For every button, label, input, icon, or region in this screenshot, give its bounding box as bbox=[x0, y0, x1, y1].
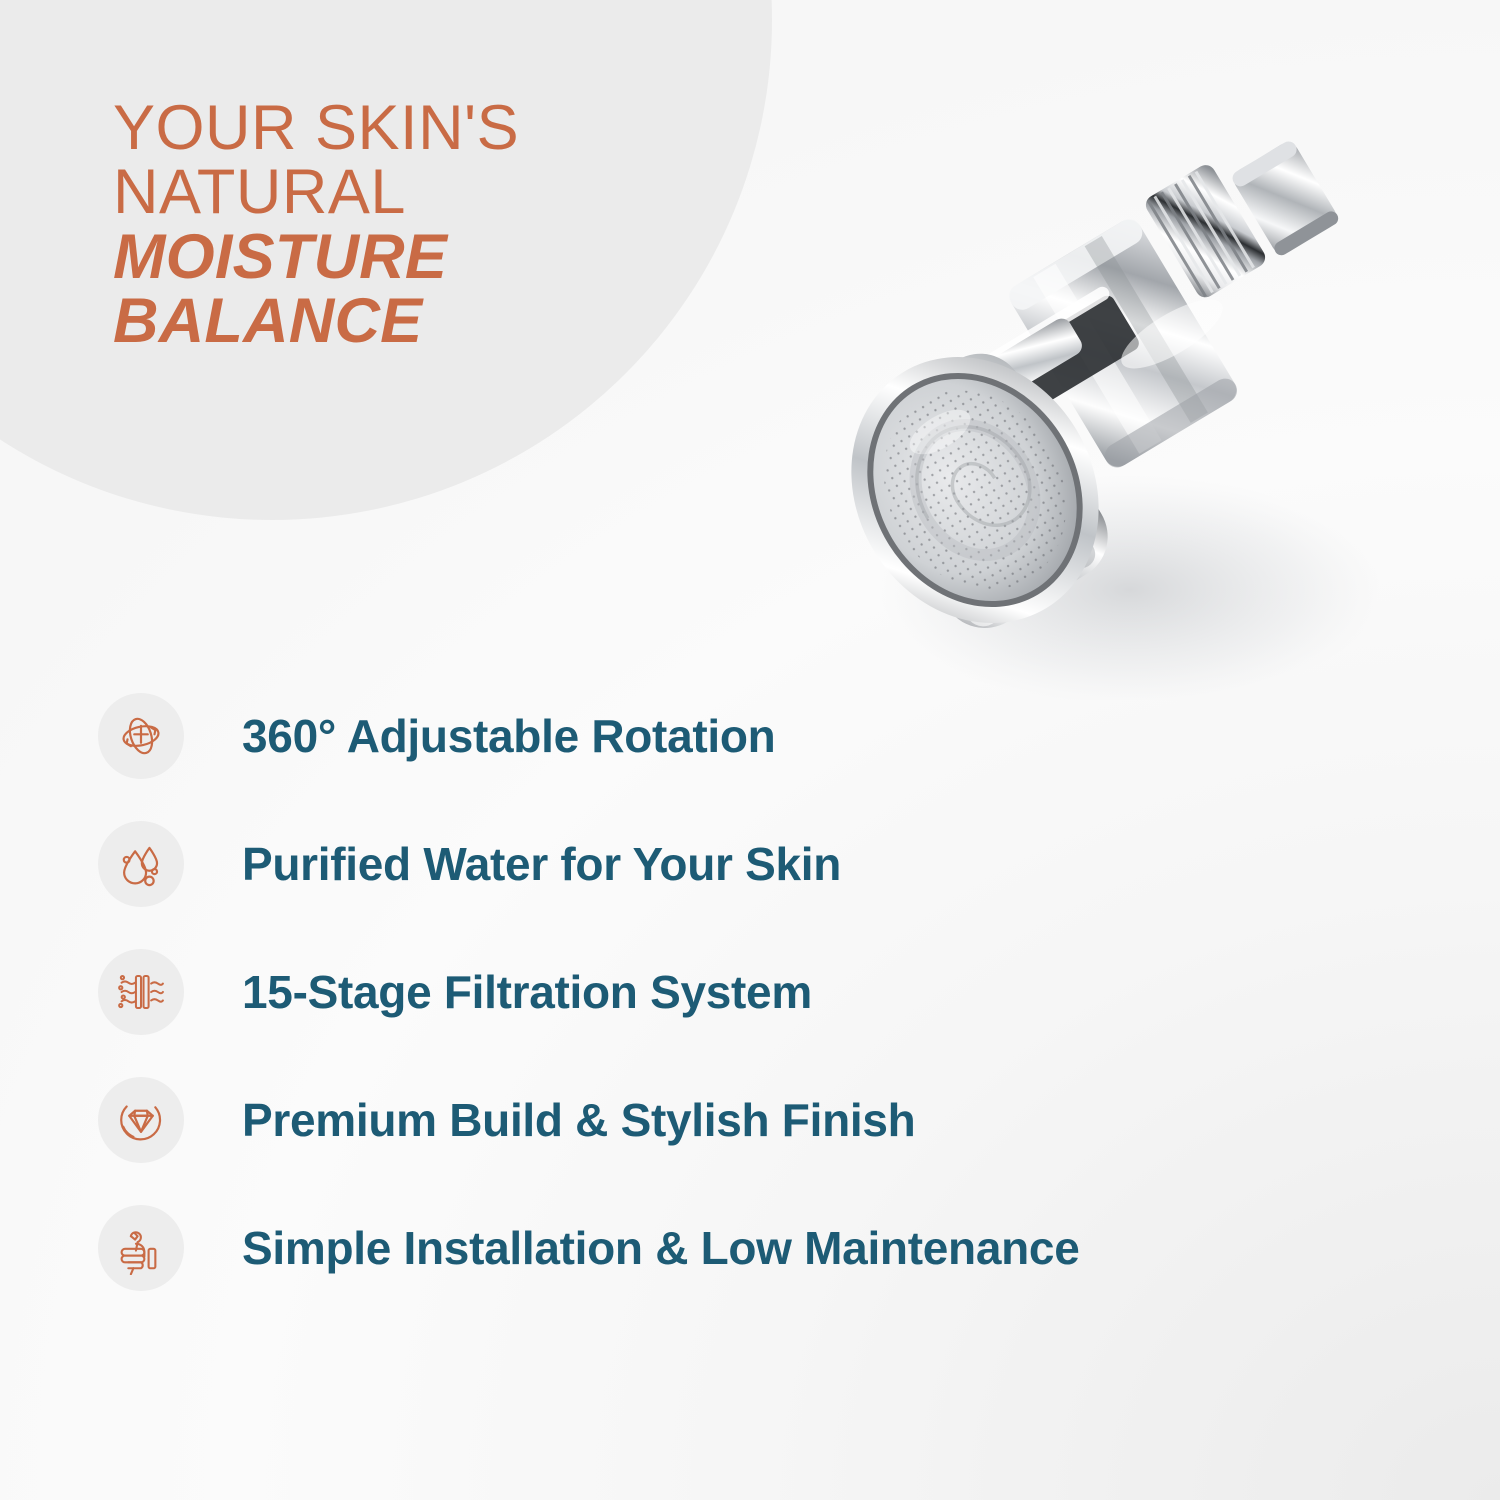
rotation-360-icon bbox=[114, 709, 168, 763]
infographic-canvas: YOUR SKIN'S NATURAL MOISTURE BALANCE bbox=[0, 0, 1500, 1500]
filter-stages-icon bbox=[114, 965, 168, 1019]
filter-stages-icon-badge bbox=[98, 949, 184, 1035]
headline-line-1: YOUR SKIN'S bbox=[113, 96, 733, 160]
feature-label-filtration: 15-Stage Filtration System bbox=[242, 965, 812, 1019]
feature-row-filtration: 15-Stage Filtration System bbox=[98, 928, 1438, 1056]
feature-row-purified-water: Purified Water for Your Skin bbox=[98, 800, 1438, 928]
hand-wrench-icon bbox=[114, 1221, 168, 1275]
feature-row-rotation: 360° Adjustable Rotation bbox=[98, 672, 1438, 800]
feature-label-installation: Simple Installation & Low Maintenance bbox=[242, 1221, 1079, 1275]
water-droplet-icon-badge bbox=[98, 821, 184, 907]
water-droplet-icon bbox=[114, 837, 168, 891]
feature-label-premium-build: Premium Build & Stylish Finish bbox=[242, 1093, 915, 1147]
rotation-360-icon-badge bbox=[98, 693, 184, 779]
feature-label-purified-water: Purified Water for Your Skin bbox=[242, 837, 841, 891]
product-image-shower-head bbox=[800, 120, 1440, 700]
diamond-quality-icon bbox=[114, 1093, 168, 1147]
feature-row-premium-build: Premium Build & Stylish Finish bbox=[98, 1056, 1438, 1184]
diamond-quality-icon-badge bbox=[98, 1077, 184, 1163]
feature-row-installation: Simple Installation & Low Maintenance bbox=[98, 1184, 1438, 1312]
headline-line-4: BALANCE bbox=[113, 289, 733, 353]
feature-label-rotation: 360° Adjustable Rotation bbox=[242, 709, 775, 763]
headline-block: YOUR SKIN'S NATURAL MOISTURE BALANCE bbox=[113, 96, 733, 353]
headline-line-2: NATURAL bbox=[113, 160, 733, 224]
hand-wrench-icon-badge bbox=[98, 1205, 184, 1291]
headline-line-3: MOISTURE bbox=[113, 225, 733, 289]
feature-list: 360° Adjustable Rotation Purified Water … bbox=[98, 672, 1438, 1312]
